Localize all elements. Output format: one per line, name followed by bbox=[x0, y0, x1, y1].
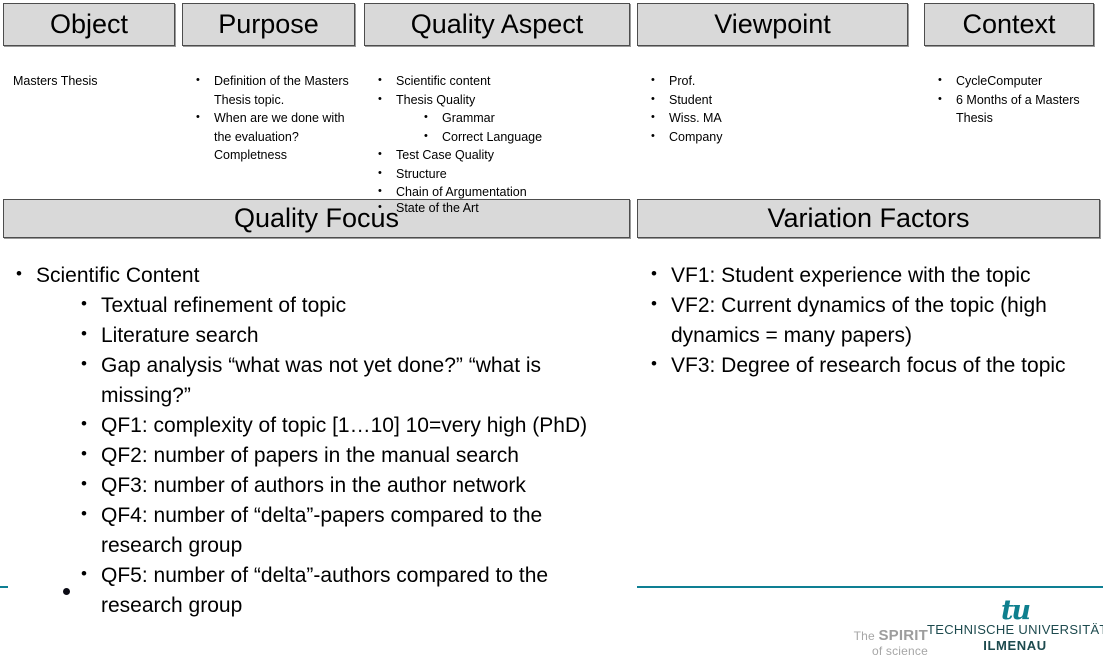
tu-city-name: ILMENAU bbox=[927, 638, 1103, 654]
list-item: Company bbox=[647, 128, 897, 147]
quality-focus-item-6: QF3: number of authors in the author net… bbox=[101, 474, 526, 497]
quality-aspect-item-5: Structure bbox=[396, 167, 447, 181]
header-label-object: Object bbox=[50, 11, 128, 38]
variation-factor-item-0: VF1: Student experience with the topic bbox=[671, 264, 1031, 287]
list-item: QF5: number of “delta”-authors compared … bbox=[13, 561, 623, 621]
list-item: Test Case Quality bbox=[374, 146, 630, 165]
list-item: VF3: Degree of research focus of the top… bbox=[648, 351, 1088, 381]
header-box-variation-factors: Variation Factors bbox=[637, 199, 1100, 238]
list-item: Wiss. MA bbox=[647, 109, 897, 128]
footer-divider bbox=[637, 586, 1103, 588]
list-item: QF3: number of authors in the author net… bbox=[13, 471, 623, 501]
quality-focus-item-5: QF2: number of papers in the manual sear… bbox=[101, 444, 519, 467]
list-item: Textual refinement of topic bbox=[13, 291, 623, 321]
header-box-purpose: Purpose bbox=[182, 3, 355, 46]
list-item: CycleComputer bbox=[934, 72, 1084, 91]
variation-factors-content: VF1: Student experience with the topic V… bbox=[648, 261, 1088, 381]
tu-monogram-icon: tu bbox=[927, 600, 1103, 622]
list-item: Gap analysis “what was not yet done?” “w… bbox=[13, 351, 623, 411]
viewpoint-item-3: Company bbox=[669, 130, 723, 144]
header-label-viewpoint: Viewpoint bbox=[714, 11, 831, 38]
header-label-purpose: Purpose bbox=[218, 11, 319, 38]
left-edge-dot bbox=[63, 588, 70, 595]
header-box-object: Object bbox=[3, 3, 175, 46]
spirit-line-2: of science bbox=[820, 644, 928, 659]
quality-aspect-item-1: Thesis Quality bbox=[396, 93, 475, 107]
viewpoint-item-2: Wiss. MA bbox=[669, 111, 722, 125]
purpose-content: Definition of the Masters Thesis topic. … bbox=[192, 72, 352, 165]
viewpoint-item-0: Prof. bbox=[669, 74, 695, 88]
list-item: 6 Months of a Masters Thesis bbox=[934, 91, 1084, 128]
quality-focus-item-8: QF5: number of “delta”-authors compared … bbox=[101, 564, 548, 617]
list-item: Definition of the Masters Thesis topic. bbox=[192, 72, 352, 109]
context-item-1: 6 Months of a Masters Thesis bbox=[956, 93, 1080, 126]
spirit-the-text: The bbox=[854, 629, 879, 643]
list-item: Correct Language bbox=[374, 128, 630, 147]
list-item: QF2: number of papers in the manual sear… bbox=[13, 441, 623, 471]
list-item: Grammar bbox=[374, 109, 630, 128]
header-label-variation-factors: Variation Factors bbox=[767, 205, 969, 232]
quality-focus-item-4: QF1: complexity of topic [1…10] 10=very … bbox=[101, 414, 587, 437]
quality-focus-item-3: Gap analysis “what was not yet done?” “w… bbox=[101, 354, 541, 407]
quality-aspect-item-0: Scientific content bbox=[396, 74, 491, 88]
context-content: CycleComputer 6 Months of a Masters Thes… bbox=[934, 72, 1084, 128]
header-label-context: Context bbox=[962, 11, 1055, 38]
quality-aspect-item-4: Test Case Quality bbox=[396, 148, 494, 162]
context-item-0: CycleComputer bbox=[956, 74, 1042, 88]
quality-aspect-item-6: Chain of Argumentation bbox=[396, 185, 527, 199]
viewpoint-item-1: Student bbox=[669, 93, 712, 107]
list-item: QF4: number of “delta”-papers compared t… bbox=[13, 501, 623, 561]
left-edge-tick bbox=[0, 586, 8, 588]
list-item: Prof. bbox=[647, 72, 897, 91]
quality-aspect-content: Scientific content Thesis Quality Gramma… bbox=[374, 72, 630, 202]
quality-focus-item-2: Literature search bbox=[101, 324, 259, 347]
quality-aspect-item-3: Correct Language bbox=[442, 130, 542, 144]
quality-focus-content: Scientific Content Textual refinement of… bbox=[13, 261, 623, 621]
header-box-context: Context bbox=[924, 3, 1094, 46]
list-item: Scientific content bbox=[374, 72, 630, 91]
list-item: VF1: Student experience with the topic bbox=[648, 261, 1088, 291]
list-item: Thesis Quality bbox=[374, 91, 630, 110]
tu-ilmenau-logo: tu TECHNISCHE UNIVERSITÄT ILMENAU bbox=[927, 600, 1103, 654]
list-item: When are we done with the evaluation? Co… bbox=[192, 109, 352, 165]
list-item: QF1: complexity of topic [1…10] 10=very … bbox=[13, 411, 623, 441]
spirit-bold-text: SPIRIT bbox=[878, 627, 928, 644]
object-content: Masters Thesis bbox=[13, 72, 173, 91]
quality-focus-item-0: Scientific Content bbox=[36, 264, 199, 287]
quality-aspect-overlap-item: State of the Art bbox=[374, 199, 630, 218]
list-item: Structure bbox=[374, 165, 630, 184]
viewpoint-content: Prof. Student Wiss. MA Company bbox=[647, 72, 897, 146]
header-box-viewpoint: Viewpoint bbox=[637, 3, 908, 46]
quality-aspect-item-7: State of the Art bbox=[396, 201, 479, 215]
quality-focus-item-1: Textual refinement of topic bbox=[101, 294, 346, 317]
quality-focus-item-7: QF4: number of “delta”-papers compared t… bbox=[101, 504, 542, 557]
purpose-item-1: When are we done with the evaluation? Co… bbox=[214, 111, 345, 162]
list-item: VF2: Current dynamics of the topic (high… bbox=[648, 291, 1088, 351]
variation-factor-item-1: VF2: Current dynamics of the topic (high… bbox=[671, 294, 1047, 347]
object-text: Masters Thesis bbox=[13, 74, 98, 88]
quality-aspect-item-2: Grammar bbox=[442, 111, 495, 125]
list-item: State of the Art bbox=[374, 199, 630, 218]
variation-factor-item-2: VF3: Degree of research focus of the top… bbox=[671, 354, 1066, 377]
list-item: Scientific Content bbox=[13, 261, 623, 291]
tu-university-name: TECHNISCHE UNIVERSITÄT bbox=[927, 622, 1103, 638]
spirit-of-science-logo: The SPIRIT of science bbox=[820, 628, 928, 659]
header-label-quality-aspect: Quality Aspect bbox=[411, 11, 584, 38]
list-item: Student bbox=[647, 91, 897, 110]
spirit-line-1: The SPIRIT bbox=[820, 628, 928, 644]
list-item: Literature search bbox=[13, 321, 623, 351]
purpose-item-0: Definition of the Masters Thesis topic. bbox=[214, 74, 349, 107]
header-box-quality-aspect: Quality Aspect bbox=[364, 3, 630, 46]
